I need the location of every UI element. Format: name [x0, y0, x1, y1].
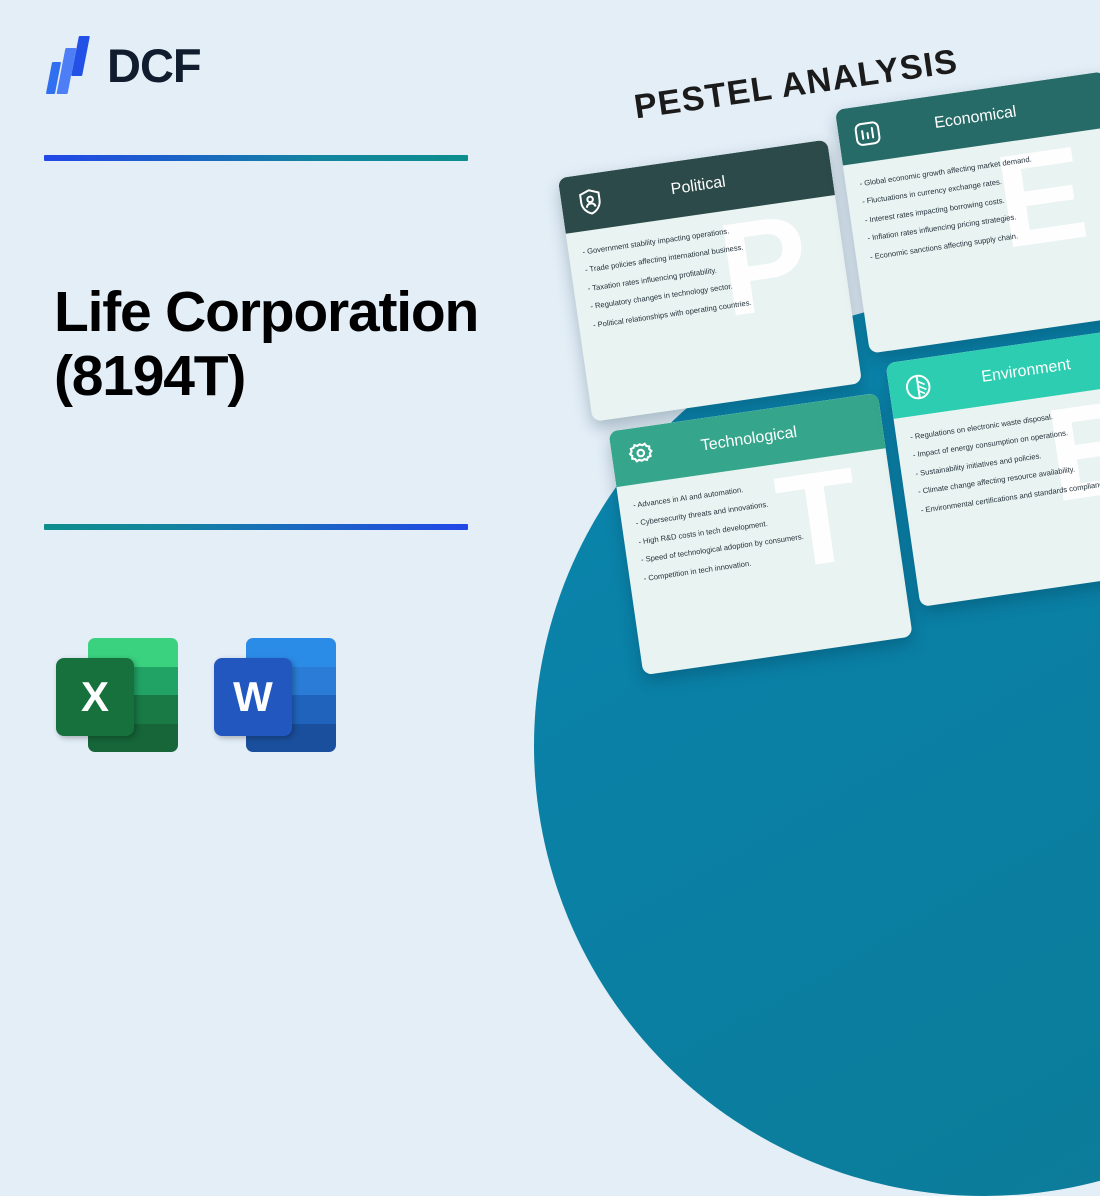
pestel-grid: Political P Government stability impacti…: [554, 71, 1100, 666]
word-badge-letter: W: [214, 658, 292, 736]
pestel-card-political[interactable]: Political P Government stability impacti…: [558, 140, 862, 422]
dcf-bars-logo-icon: [48, 36, 94, 94]
pestel-card-technological[interactable]: Technological T Advances in AI and autom…: [608, 393, 912, 675]
page-title-line1: Life Corporation: [54, 280, 478, 344]
pestel-board: PESTEL ANALYSIS Political P Government s…: [554, 71, 1100, 666]
word-file-icon[interactable]: W: [214, 634, 336, 756]
leaf-icon: [901, 370, 935, 404]
card-body-environment: E Regulations on electronic waste dispos…: [894, 380, 1100, 607]
card-title-environment: Environment: [932, 345, 1100, 393]
excel-file-icon[interactable]: X: [56, 634, 178, 756]
brand-logo[interactable]: DCF: [48, 36, 201, 94]
excel-badge-letter: X: [56, 658, 134, 736]
bar-chart-icon: [851, 117, 885, 151]
divider-bottom: [44, 524, 468, 530]
gear-icon: [624, 438, 658, 472]
shield-person-icon: [573, 185, 607, 219]
card-body-political: P Government stability impacting operati…: [566, 195, 862, 422]
divider-top: [44, 155, 468, 161]
bullet-list-political: Government stability impacting operation…: [582, 213, 835, 330]
page-title: Life Corporation (8194T): [54, 281, 514, 409]
pestel-card-environment[interactable]: Environment E Regulations on electronic …: [886, 325, 1100, 607]
pestel-card-economical[interactable]: Economical E Global economic growth affe…: [835, 71, 1100, 353]
left-panel: DCF Life Corporation (8194T) X W: [0, 0, 530, 817]
card-body-economical: E Global economic growth affecting marke…: [843, 127, 1100, 354]
bullet-list-economical: Global economic growth affecting market …: [859, 145, 1100, 262]
bullet-list-environment: Regulations on electronic waste disposal…: [910, 398, 1100, 515]
bullet-list-technological: Advances in AI and automation. Cybersecu…: [633, 466, 886, 583]
page-title-line2: (8194T): [54, 345, 514, 409]
brand-name: DCF: [107, 42, 201, 89]
download-icons: X W: [56, 634, 336, 756]
card-body-technological: T Advances in AI and automation. Cyberse…: [616, 448, 912, 675]
